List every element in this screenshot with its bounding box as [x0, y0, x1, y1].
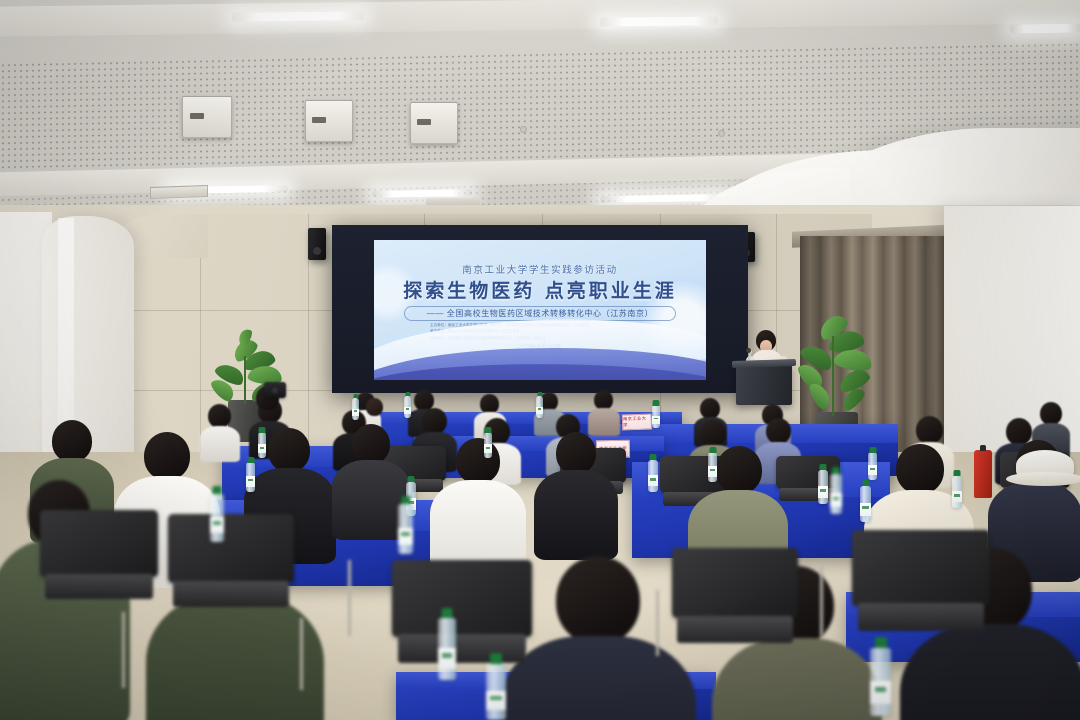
water-bottle — [868, 452, 877, 480]
water-bottle — [210, 494, 224, 542]
water-bottle — [258, 432, 266, 458]
slide-event-line: 南京工业大学学生实践参访活动 — [374, 262, 706, 276]
ceiling-band-front — [0, 0, 1080, 37]
water-bottle — [648, 460, 658, 492]
fire-extinguisher — [974, 450, 992, 498]
water-bottle — [438, 618, 456, 680]
water-bottle — [870, 648, 891, 716]
ceiling-mounted-projector-housing — [410, 102, 458, 144]
ceiling-sprinkler-icon — [718, 130, 725, 137]
water-bottle — [404, 396, 411, 418]
conference-chair — [852, 530, 990, 648]
water-bottle — [484, 432, 492, 458]
hat-brim — [1006, 472, 1080, 486]
wall-mounted-loudspeaker — [308, 228, 326, 260]
recessed-linear-light — [600, 16, 718, 26]
camera-lens-icon — [270, 385, 280, 395]
microphone-head-icon — [746, 348, 751, 353]
slide-subtitle: —— 全国高校生物医药区域技术转移转化中心（江苏南京） — [404, 306, 676, 321]
water-bottle — [952, 476, 962, 508]
recessed-linear-light — [1010, 24, 1080, 34]
lectern — [736, 365, 792, 405]
attendee-black-tshirt — [534, 470, 618, 560]
water-bottle — [486, 664, 506, 720]
air-diffuser-grille — [150, 185, 208, 199]
ceiling-mounted-projector-housing — [182, 96, 232, 138]
slide-headline: 探索生物医药 点亮职业生涯 — [374, 276, 706, 303]
water-bottle — [352, 398, 359, 420]
projected-slide: 南京工业大学学生实践参访活动 探索生物医药 点亮职业生涯 —— 全国高校生物医药… — [374, 240, 706, 380]
conference-chair — [392, 560, 532, 680]
water-bottle — [652, 404, 660, 428]
water-bottle — [708, 452, 717, 482]
recessed-linear-light — [232, 11, 364, 22]
water-bottle — [398, 504, 413, 554]
conference-chair — [672, 548, 798, 658]
water-bottle — [860, 486, 871, 522]
ceiling-sprinkler-icon — [520, 126, 527, 133]
name-placard: 南京工业大学 — [622, 413, 653, 430]
water-bottle — [818, 470, 828, 504]
ceiling-mounted-projector-housing — [305, 100, 353, 142]
lecture-hall-photograph: 南京工业大学学生实践参访活动 探索生物医药 点亮职业生涯 —— 全国高校生物医药… — [0, 0, 1080, 720]
water-bottle — [830, 474, 842, 514]
conference-chair — [168, 514, 294, 622]
water-bottle — [246, 462, 255, 492]
water-bottle — [536, 396, 543, 418]
conference-chair — [40, 510, 158, 614]
